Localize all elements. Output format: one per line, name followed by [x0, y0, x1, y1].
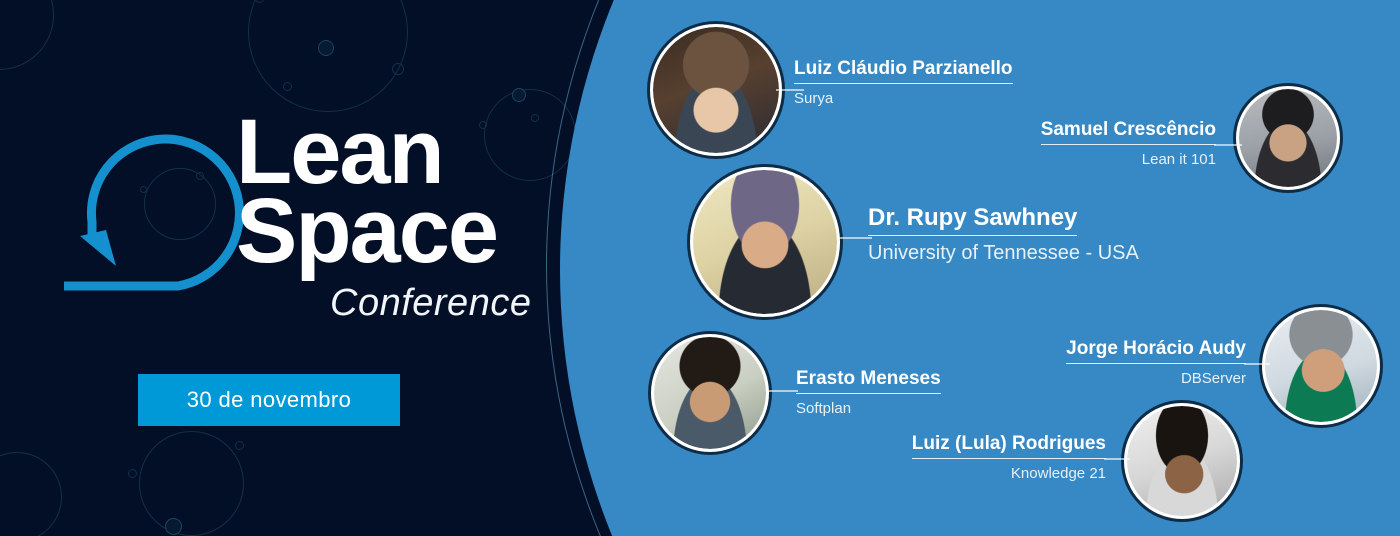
conference-banner: Lean Space Conference 30 de novembro Lui…: [0, 0, 1400, 536]
avatar-photo: [1127, 406, 1237, 516]
speaker-info: Dr. Rupy Sawhney University of Tennessee…: [868, 204, 1139, 265]
avatar[interactable]: [1262, 307, 1380, 425]
speaker-name: Dr. Rupy Sawhney: [868, 204, 1077, 236]
avatar-name-connector: [1244, 363, 1270, 365]
decor-dot-bottom-b: [165, 518, 182, 535]
avatar[interactable]: [1124, 403, 1240, 519]
speaker-company: University of Tennessee - USA: [868, 242, 1139, 265]
speaker-company: DBServer: [930, 370, 1246, 387]
speaker-company: Surya: [794, 90, 1013, 107]
decor-circle-left-top: [0, 0, 54, 70]
avatar-name-connector: [768, 390, 798, 392]
speaker-info: Erasto Meneses Softplan: [796, 368, 941, 417]
event-date-badge[interactable]: 30 de novembro: [138, 374, 400, 426]
speaker-info: Luiz Cláudio Parzianello Surya: [794, 58, 1013, 107]
speaker-company: Knowledge 21: [790, 465, 1106, 482]
speaker-info: Luiz (Lula) Rodrigues Knowledge 21: [790, 433, 1106, 482]
decor-circle-far-bottom: [0, 452, 62, 536]
avatar-photo: [653, 27, 779, 153]
avatar-photo: [654, 337, 766, 449]
speaker-name: Jorge Horácio Audy: [1066, 338, 1246, 364]
title-line-2: Space: [236, 189, 556, 274]
avatar-photo: [1239, 89, 1337, 187]
speaker-name: Luiz (Lula) Rodrigues: [912, 433, 1106, 459]
decor-circle-large-top: [248, 0, 408, 112]
avatar[interactable]: [651, 334, 769, 452]
decor-dot-bottom-a: [128, 469, 137, 478]
subtitle: Conference: [330, 282, 531, 325]
avatar[interactable]: [690, 167, 840, 317]
avatar[interactable]: [650, 24, 782, 156]
decor-dot-top-a: [318, 40, 334, 56]
decor-dot-bottom-c: [235, 441, 244, 450]
speaker-info: Jorge Horácio Audy DBServer: [930, 338, 1246, 387]
speaker-name: Samuel Crescêncio: [1041, 119, 1216, 145]
decor-dot-right-top: [512, 88, 526, 102]
speaker-name: Luiz Cláudio Parzianello: [794, 58, 1013, 84]
avatar-photo: [693, 170, 837, 314]
avatar-photo: [1265, 310, 1377, 422]
avatar[interactable]: [1236, 86, 1340, 190]
speaker-info: Samuel Crescêncio Lean it 101: [900, 119, 1216, 168]
avatar-name-connector: [1104, 458, 1130, 460]
event-date-label: 30 de novembro: [187, 387, 352, 413]
decor-dot-top-c: [283, 82, 292, 91]
avatar-name-connector: [1214, 144, 1242, 146]
wordmark: Lean Space Conference: [236, 110, 556, 273]
speaker-company: Lean it 101: [900, 151, 1216, 168]
decor-circle-bottom: [139, 431, 244, 536]
decor-dot-mid-a: [392, 63, 404, 75]
speaker-name: Erasto Meneses: [796, 368, 941, 394]
speaker-company: Softplan: [796, 400, 941, 417]
lean-space-logo-icon: [58, 126, 230, 306]
avatar-name-connector: [838, 237, 872, 239]
